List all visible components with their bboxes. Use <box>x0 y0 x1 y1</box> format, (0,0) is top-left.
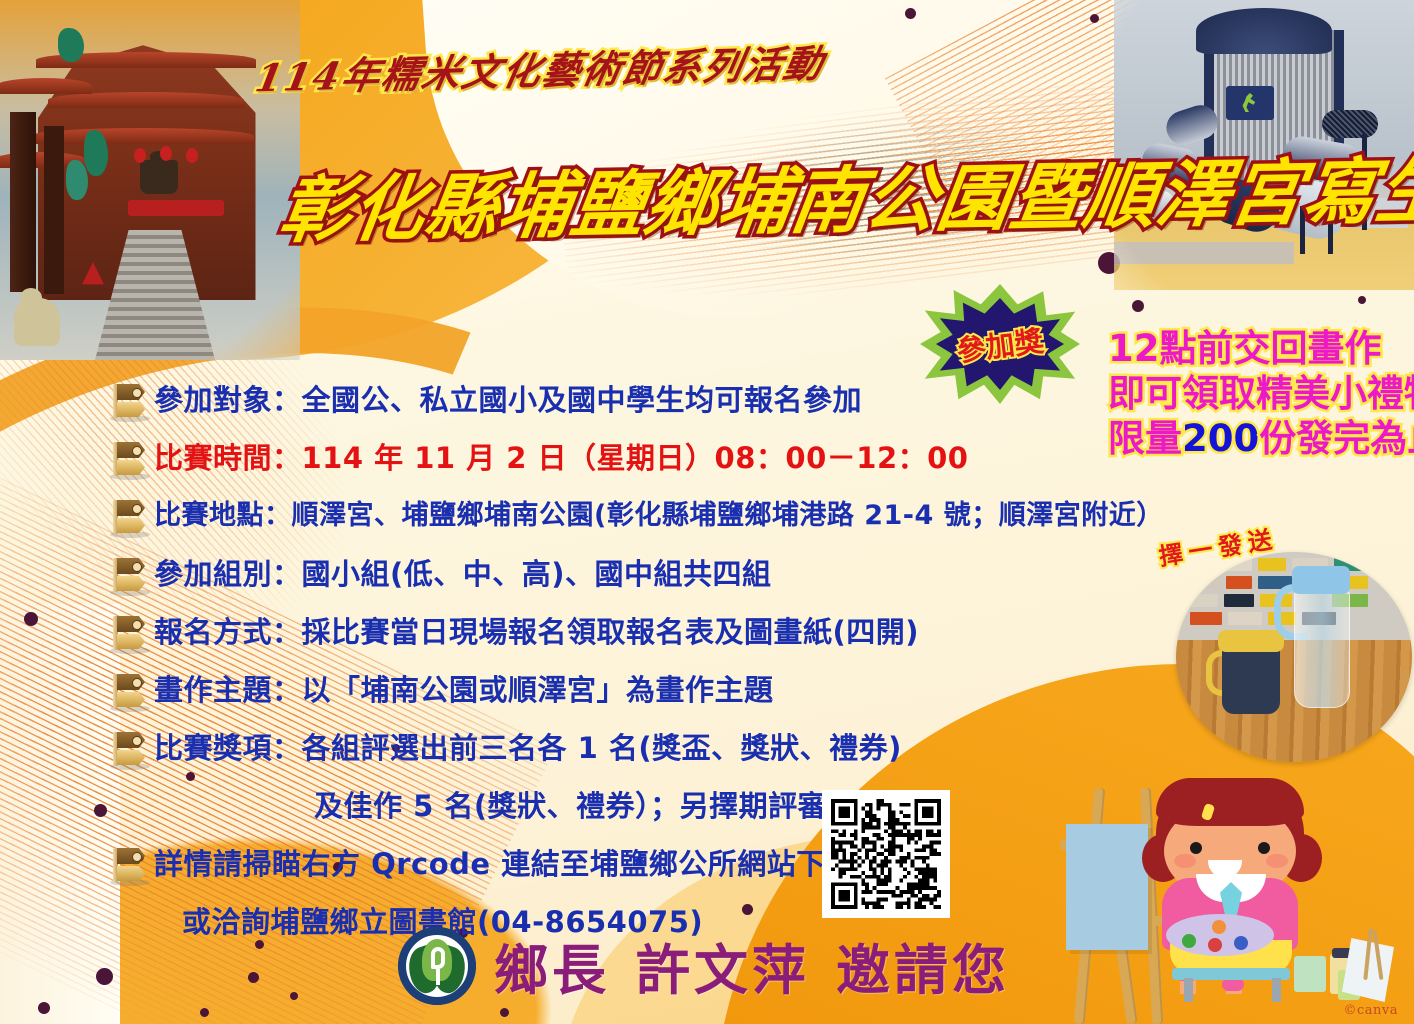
decorative-dot <box>290 992 298 1000</box>
list-item: 詳情請掃瞄右方 Qrcode 連結至埔鹽鄉公所網站下載簡章 <box>108 842 1148 894</box>
signature-name: 許文萍 <box>636 938 810 1002</box>
promo-line-2: 即可領取精美小禮物 <box>1108 371 1414 416</box>
decorative-dot <box>500 1008 509 1017</box>
flag-bullet-icon <box>108 614 154 654</box>
list-item-label: 比賽地點：順澤宮、埔鹽鄉埔南公園(彰化縣埔鹽鄉埔港路 21-4 號；順澤宮附近） <box>154 494 1164 538</box>
decorative-dot <box>905 8 916 19</box>
promo-limit-count: 200 <box>1182 417 1259 460</box>
list-item: 比賽地點：順澤宮、埔鹽鄉埔南公園(彰化縣埔鹽鄉埔港路 21-4 號；順澤宮附近） <box>108 494 1148 546</box>
canva-watermark: ©canva <box>1344 1003 1399 1018</box>
decorative-dot <box>96 968 113 985</box>
list-item-label: 報名方式：採比賽當日現場報名領取報名表及圖畫紙(四開) <box>154 610 919 654</box>
playground-sign-icon <box>1226 86 1274 120</box>
list-item: 比賽時間：114 年 11 月 2 日（星期日）08：00－12：00 <box>108 436 1148 488</box>
promo-line-1: 12點前交回畫作 <box>1108 326 1414 371</box>
list-item-label: 比賽獎項：各組評選出前三名各 1 名(獎盃、獎狀、禮券) <box>154 726 902 770</box>
temple-photo <box>0 0 300 360</box>
list-item: 及佳作 5 名(獎狀、禮券）；另擇期評審。 <box>108 784 1148 836</box>
info-list: 參加對象：全國公、私立國小及國中學生均可報名參加 比賽時間：114 年 11 月… <box>108 378 1148 958</box>
decorative-dot <box>1358 296 1366 304</box>
township-logo <box>398 927 476 1005</box>
participation-prize-badge: 參加獎 <box>920 284 1080 404</box>
promo-limit-prefix: 限量 <box>1108 417 1182 460</box>
list-item-label: 比賽時間：114 年 11 月 2 日（星期日）08：00－12：00 <box>154 436 968 480</box>
promo-limit-suffix: 份發完為止 <box>1259 417 1414 460</box>
girl-painting-illustration <box>1050 778 1414 1024</box>
gift-photo <box>1176 552 1412 762</box>
signature-invite: 邀請您 <box>836 938 1010 1002</box>
list-item-label: 參加對象：全國公、私立國小及國中學生均可報名參加 <box>154 378 862 422</box>
badge-label: 參加獎 <box>913 275 1086 414</box>
decorative-dot <box>248 972 259 983</box>
list-item: 報名方式：採比賽當日現場報名領取報名表及圖畫紙(四開) <box>108 610 1148 662</box>
list-item: 比賽獎項：各組評選出前三名各 1 名(獎盃、獎狀、禮券) <box>108 726 1148 778</box>
poster-canvas: 114年糯米文化藝術節系列活動 彰化縣埔鹽鄉埔南公園暨順澤宮寫生比賽 參加對象：… <box>0 0 1414 1024</box>
qrcode-image <box>831 799 941 909</box>
signature-text: 鄉長許文萍邀請您 <box>494 926 1010 1005</box>
flag-bullet-icon <box>108 672 154 712</box>
decorative-dot <box>94 804 107 817</box>
flag-bullet-icon <box>108 730 154 770</box>
flag-bullet-icon <box>108 846 154 886</box>
flag-bullet-icon <box>108 382 154 422</box>
flag-bullet-icon <box>108 440 154 480</box>
list-item-label: 詳情請掃瞄右方 Qrcode 連結至埔鹽鄉公所網站下載簡章 <box>154 842 914 886</box>
signature-block: 鄉長許文萍邀請您 <box>398 926 1010 1005</box>
list-item: 畫作主題：以「埔南公園或順澤宮」為畫作主題 <box>108 668 1148 720</box>
decorative-dot <box>24 612 38 626</box>
decorative-dot <box>38 1002 50 1014</box>
promo-line-3: 限量200份發完為止 <box>1108 416 1414 461</box>
list-item-label: 參加組別：國小組(低、中、高)、國中組共四組 <box>154 552 772 596</box>
decorative-dot <box>1132 300 1144 312</box>
list-item-label: 畫作主題：以「埔南公園或順澤宮」為畫作主題 <box>154 668 774 712</box>
qrcode[interactable] <box>822 790 950 918</box>
promo-text-block: 12點前交回畫作 即可領取精美小禮物 限量200份發完為止 <box>1108 326 1414 461</box>
decorative-dot <box>200 1008 209 1017</box>
signature-role: 鄉長 <box>494 938 610 1002</box>
list-item-label: 及佳作 5 名(獎狀、禮券）；另擇期評審。 <box>314 784 857 828</box>
flag-bullet-icon <box>108 556 154 596</box>
flag-bullet-icon <box>108 498 154 538</box>
list-item: 參加組別：國小組(低、中、高)、國中組共四組 <box>108 552 1148 604</box>
decorative-dot <box>1090 14 1099 23</box>
